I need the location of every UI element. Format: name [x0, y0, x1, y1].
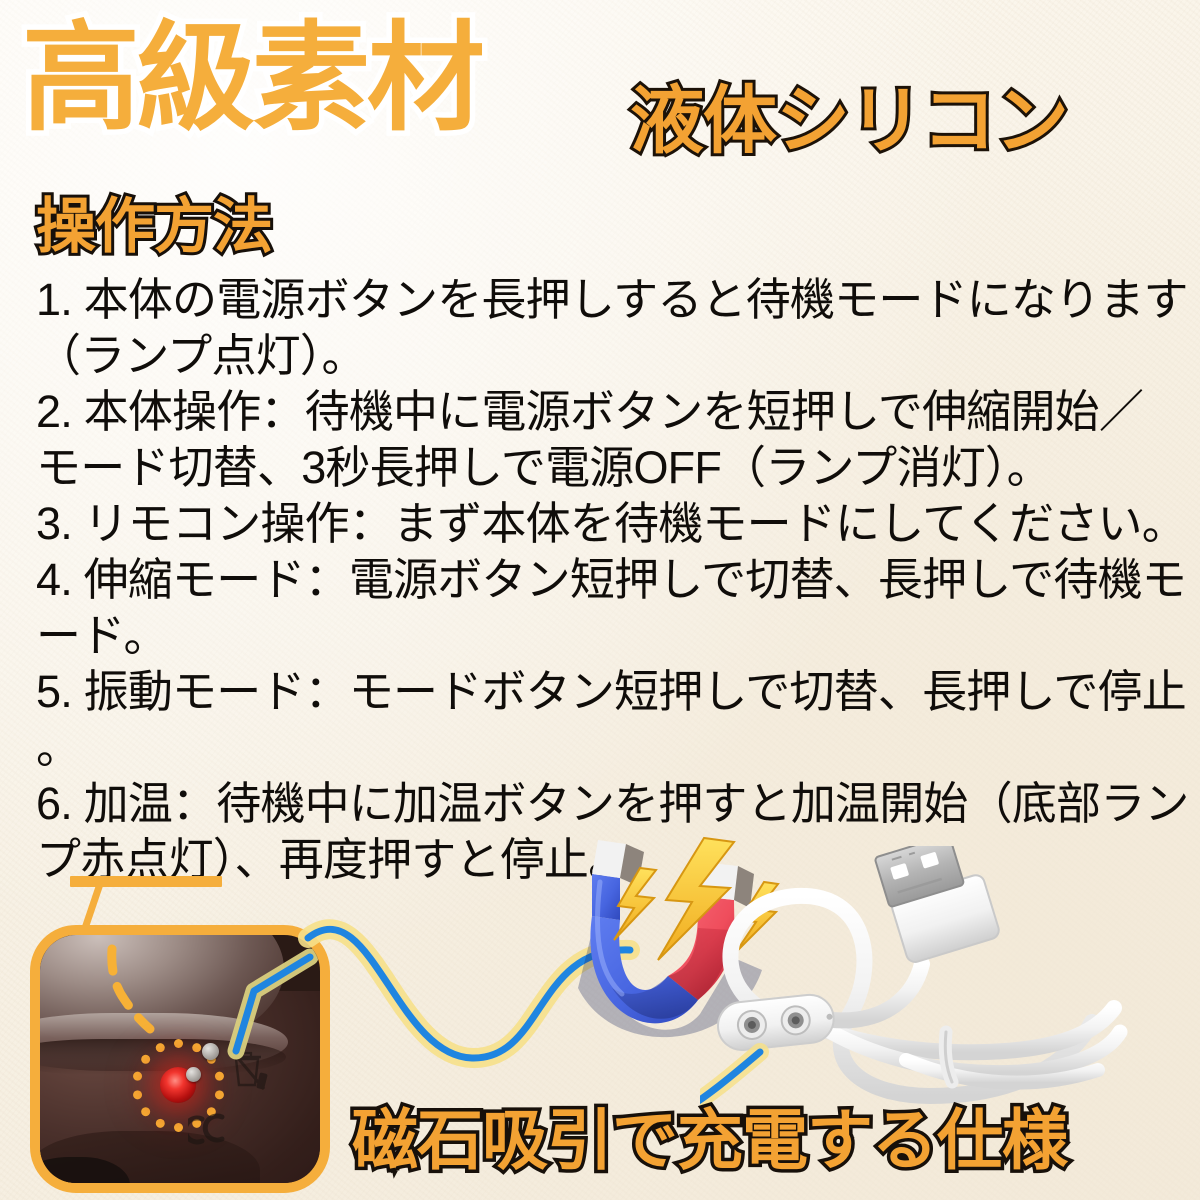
- instruction-line: 3. リモコン操作：まず本体を待機モードにしてください。: [36, 496, 1170, 552]
- header-band: 高級素材 液体シリコン: [0, 0, 1200, 182]
- page-title-main: 高級素材: [22, 8, 482, 152]
- instruction-line: 5. 振動モード：モードボタン短押しで切替、長押しで停止: [36, 664, 1170, 720]
- instruction-line: 4. 伸縮モード：電源ボタン短押しで切替、長押しで待機モ: [36, 552, 1170, 608]
- instruction-line: モード切替、3秒長押しで電源OFF（ランプ消灯）。: [36, 440, 1170, 496]
- instruction-line: 1. 本体の電源ボタンを長押しすると待機モードになります: [36, 272, 1170, 328]
- product-photo: [40, 935, 320, 1183]
- bottom-caption: 磁石吸引で充電する仕様: [352, 1104, 1067, 1177]
- product-photo-frame: [30, 925, 330, 1193]
- infographic-page: 高級素材 液体シリコン 操作方法 1. 本体の電源ボタンを長押しすると待機モード…: [0, 0, 1200, 1200]
- instruction-line: 6. 加温：待機中に加温ボタンを押すと加温開始（底部ラン: [36, 776, 1170, 832]
- wire-stub-in-photo-icon: [40, 935, 320, 1183]
- page-title-sub: 液体シリコン: [630, 78, 1068, 163]
- section-heading-operation: 操作方法: [36, 193, 272, 260]
- instruction-list: 1. 本体の電源ボタンを長押しすると待機モードになります （ランプ点灯）。 2.…: [36, 272, 1170, 888]
- instruction-line: 。: [36, 720, 1170, 776]
- instruction-line: （ランプ点灯）。: [36, 328, 1170, 384]
- instruction-line: 2. 本体操作：待機中に電源ボタンを短押しで伸縮開始／: [36, 384, 1170, 440]
- usb-charging-cable-icon: [700, 846, 1130, 1146]
- instruction-line: ード。: [36, 608, 1170, 664]
